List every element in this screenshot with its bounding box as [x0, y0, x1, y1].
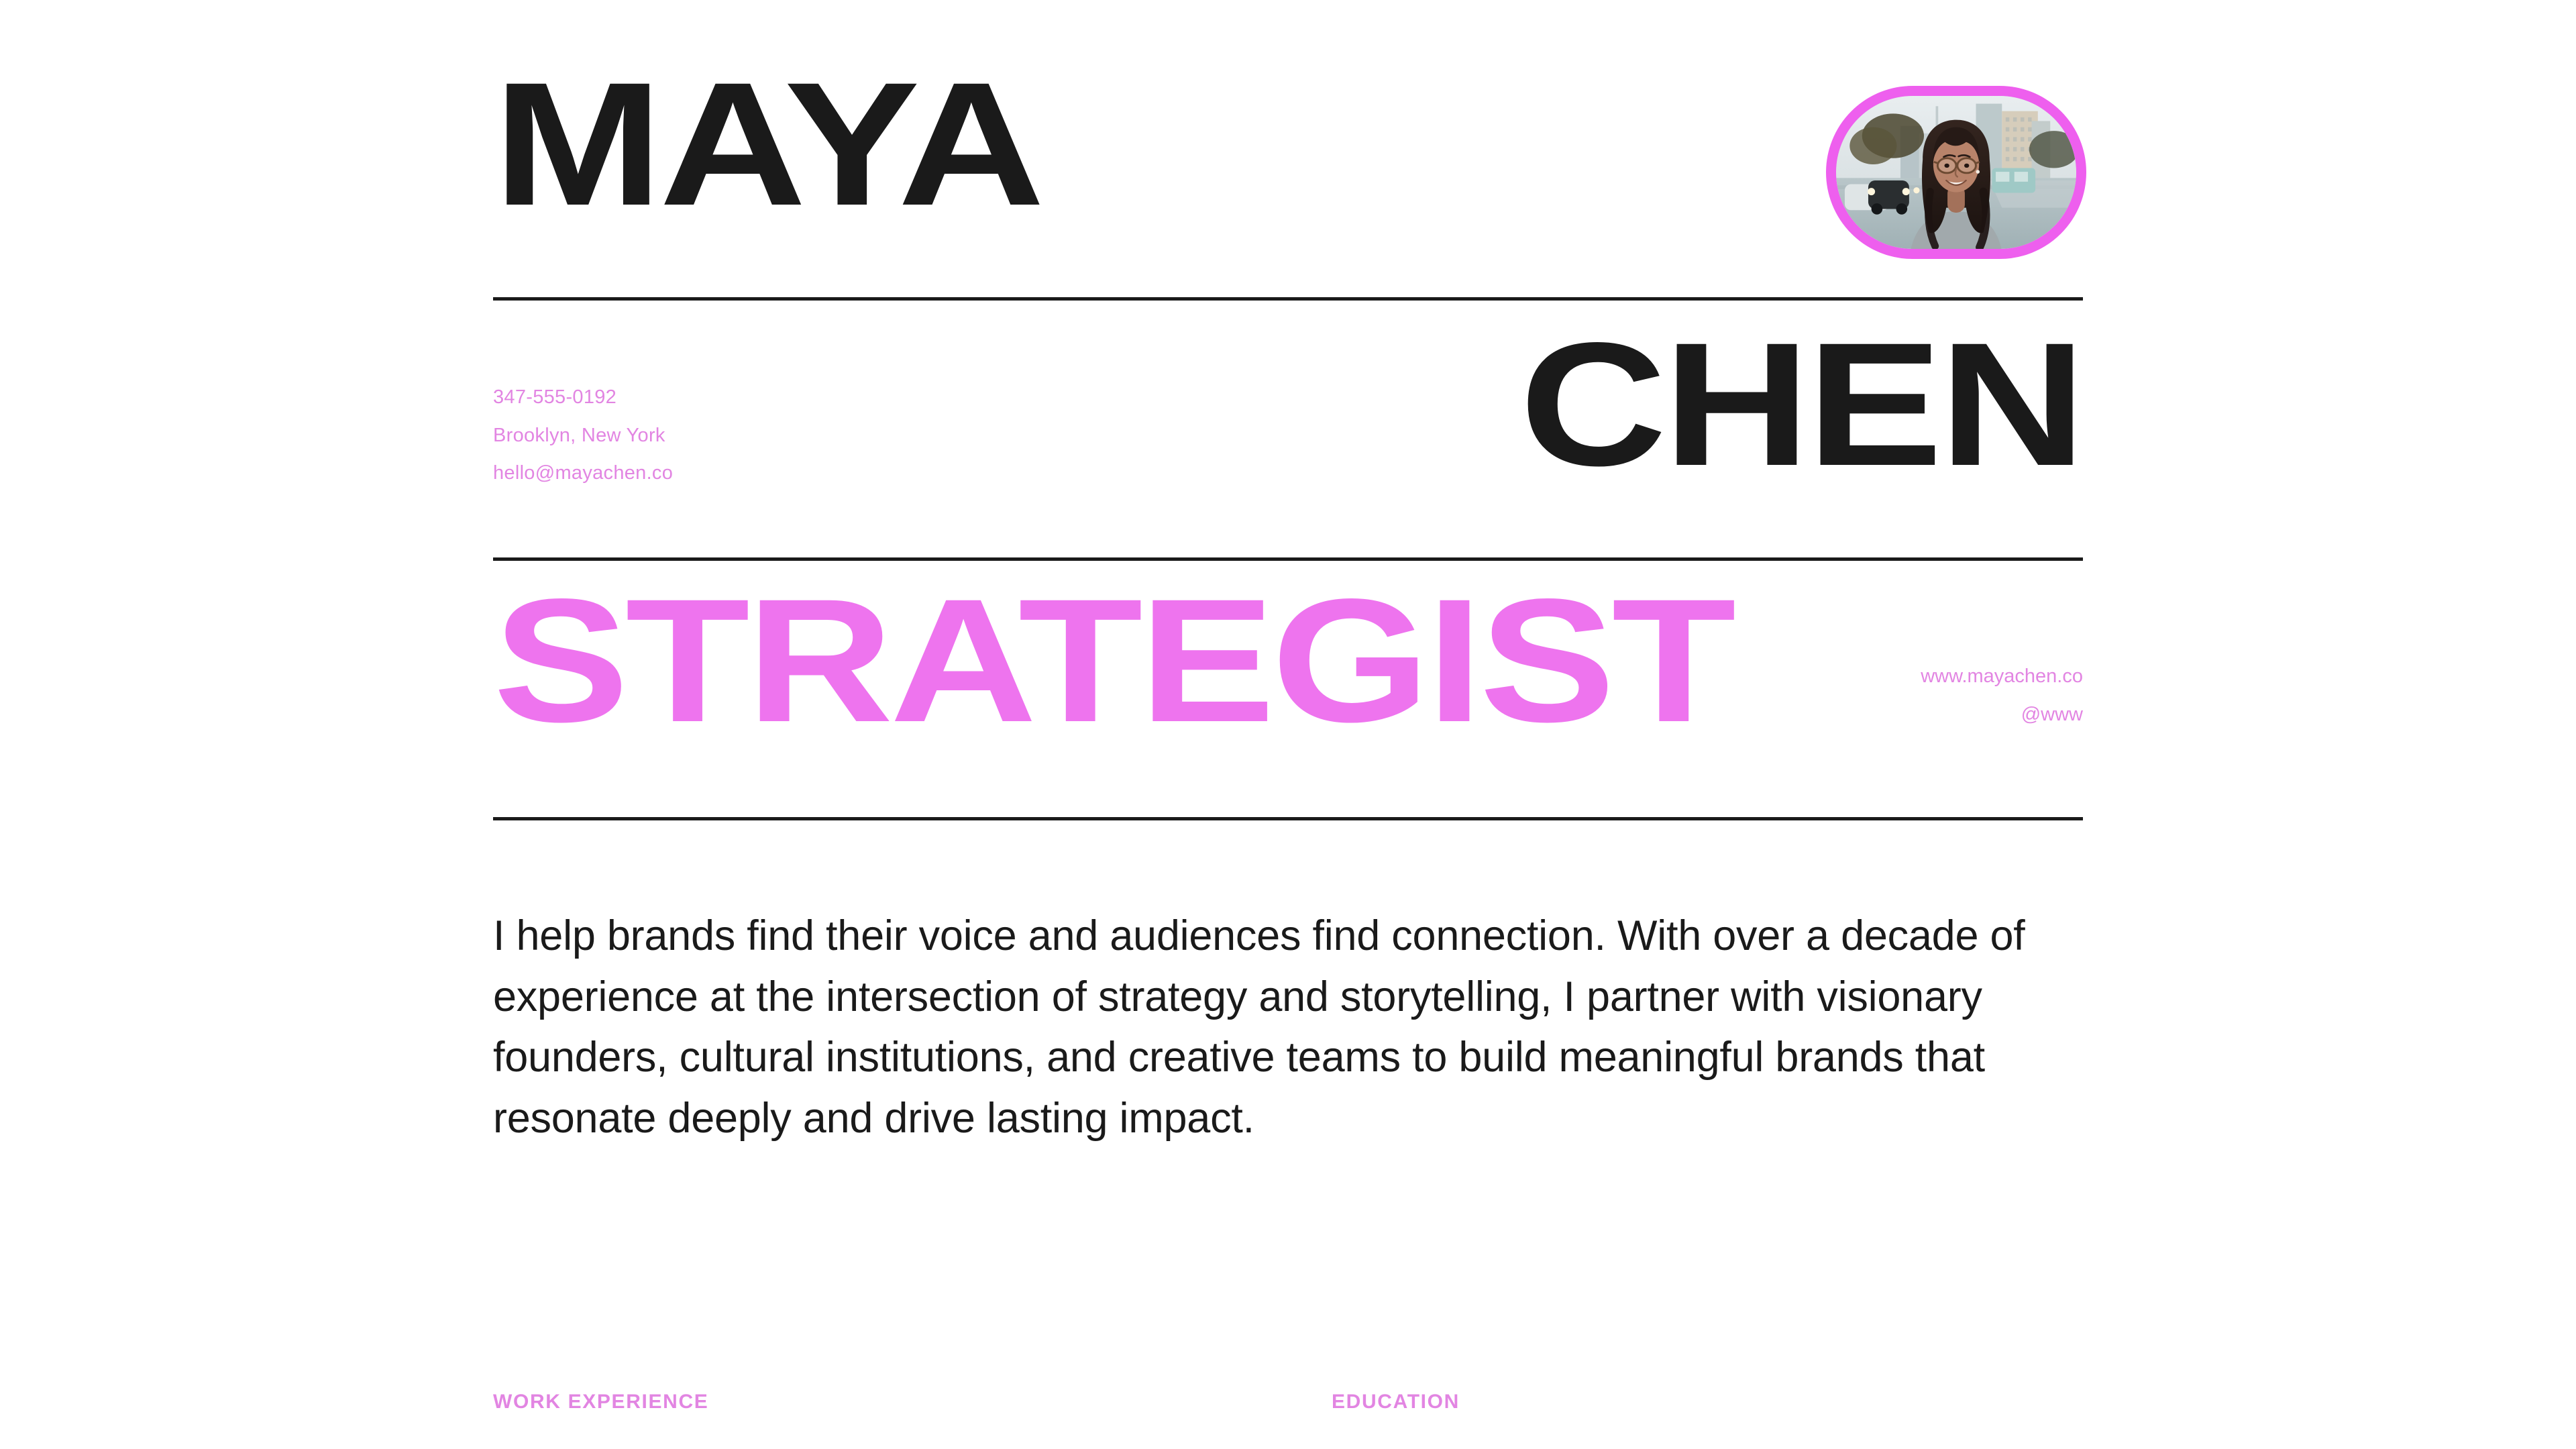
links-block: www.mayachen.co @www — [1921, 657, 2083, 733]
summary-paragraph: I help brands find their voice and audie… — [493, 906, 2090, 1149]
page-title-last-name: CHEN — [1520, 334, 2083, 475]
link-social[interactable]: @www — [1921, 696, 2083, 734]
divider-rule-top — [493, 297, 2083, 301]
contact-email[interactable]: hello@mayachen.co — [493, 454, 673, 492]
contact-location: Brooklyn, New York — [493, 417, 673, 455]
resume-content-column: MAYA — [493, 0, 2083, 1449]
role-title: STRATEGIST — [493, 590, 1733, 731]
page-title-first-name: MAYA — [493, 74, 1041, 215]
divider-rule-middle — [493, 557, 2083, 561]
contact-phone[interactable]: 347-555-0192 — [493, 378, 673, 417]
link-website[interactable]: www.mayachen.co — [1921, 657, 2083, 696]
divider-rule-bottom — [493, 817, 2083, 820]
contact-block: 347-555-0192 Brooklyn, New York hello@ma… — [493, 378, 673, 492]
section-heading-education: EDUCATION — [1332, 1391, 1460, 1413]
avatar — [1826, 86, 2086, 259]
resume-page: MAYA — [0, 0, 2576, 1449]
avatar-photo — [1836, 96, 2076, 249]
section-heading-work-experience: WORK EXPERIENCE — [493, 1391, 708, 1413]
